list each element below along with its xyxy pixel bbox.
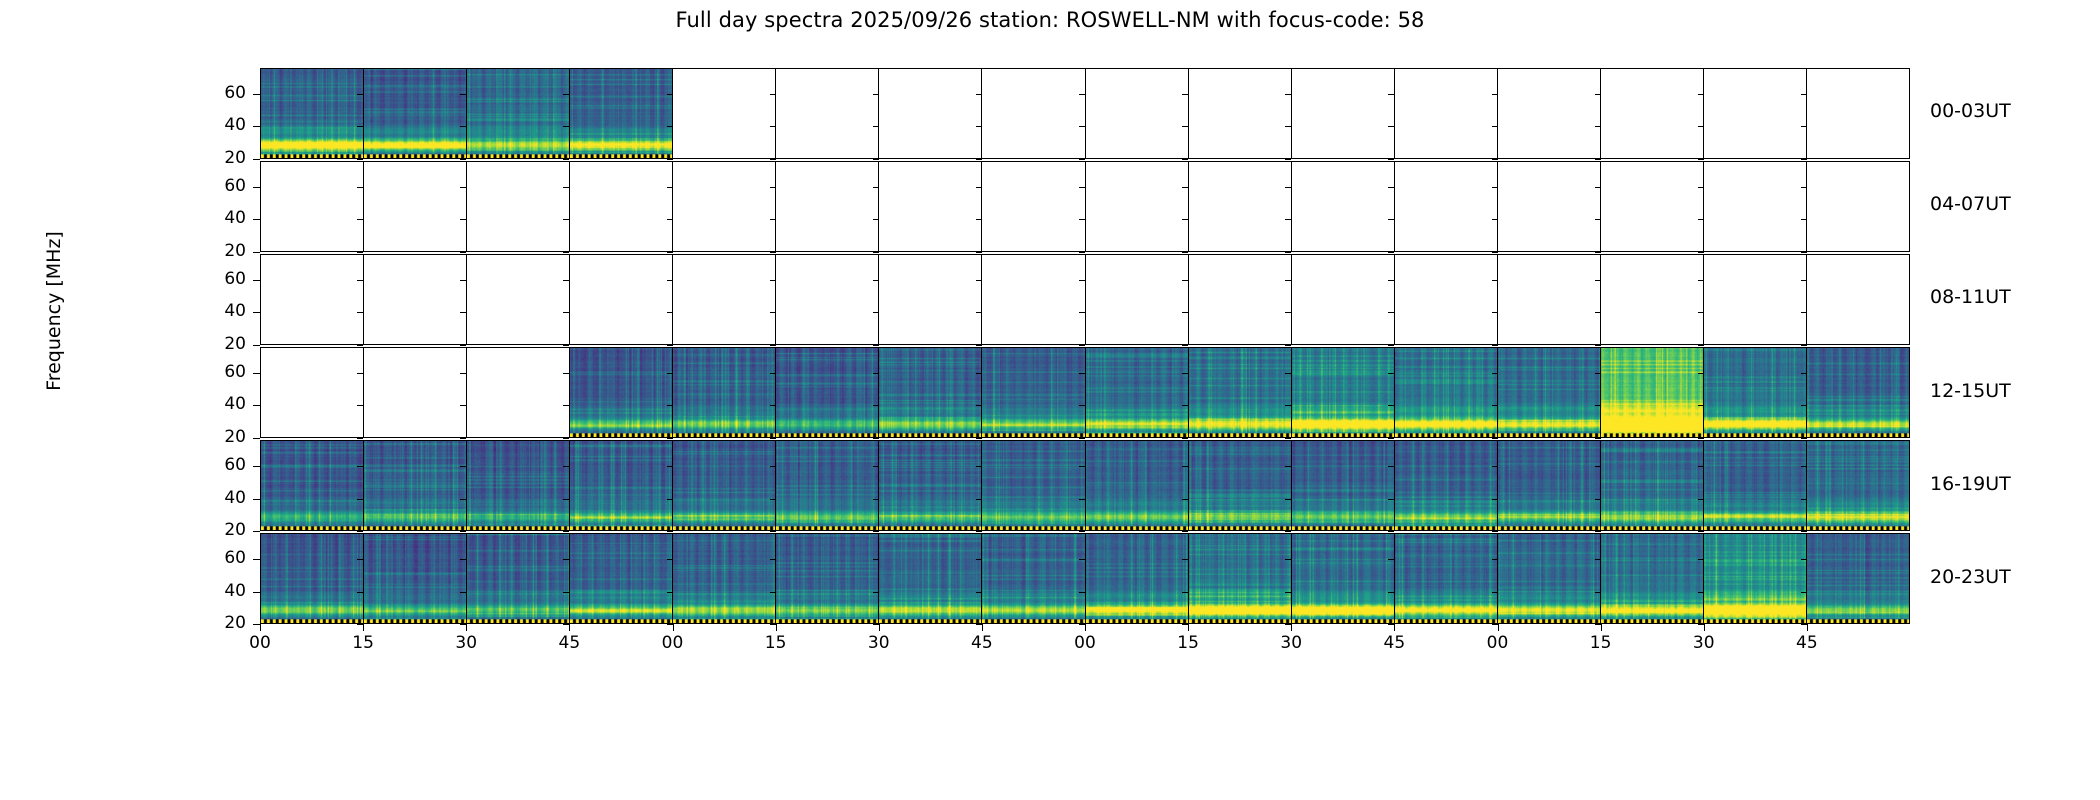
y-tick-stub xyxy=(357,126,363,127)
y-tick-stub xyxy=(1698,126,1704,127)
spectrogram-cell xyxy=(982,69,1085,158)
spectrogram-tile xyxy=(1086,534,1188,623)
spectrogram-tile xyxy=(570,69,672,158)
spectrogram-cell xyxy=(1807,348,1909,437)
y-tick-stub xyxy=(1285,94,1291,95)
spectrogram-cell xyxy=(1704,255,1807,344)
y-tick-stub xyxy=(1492,94,1498,95)
y-tick-stub xyxy=(976,499,982,500)
x-tick-label: 15 xyxy=(753,633,799,653)
spectrogram-cell xyxy=(982,348,1085,437)
spectrogram-cell xyxy=(1086,69,1189,158)
y-tick-stub xyxy=(1492,187,1498,188)
spectrogram-tile xyxy=(982,348,1084,437)
y-tick-stub xyxy=(1595,126,1601,127)
spectrogram-cell xyxy=(1807,534,1909,623)
y-tick-stub xyxy=(770,94,776,95)
y-tick-label: 40 xyxy=(198,115,246,135)
y-tick-stub xyxy=(667,126,673,127)
y-tick-stub xyxy=(460,559,466,560)
y-tick-stub xyxy=(1492,559,1498,560)
x-tick-mark xyxy=(569,624,570,631)
y-tick-stub xyxy=(976,280,982,281)
x-tick-label: 30 xyxy=(856,633,902,653)
y-tick-stub xyxy=(873,499,879,500)
y-tick-label: 40 xyxy=(198,581,246,601)
y-tick-label: 60 xyxy=(198,269,246,289)
spectrogram-cell xyxy=(1292,348,1395,437)
spectrogram-cell xyxy=(1601,348,1704,437)
y-tick-stub xyxy=(1079,624,1085,625)
y-tick-stub xyxy=(563,531,569,532)
y-tick-stub xyxy=(1492,624,1498,625)
row-label-16-19ut: 16-19UT xyxy=(1930,473,2011,495)
y-tick-stub xyxy=(1801,559,1807,560)
spectrogram-cell xyxy=(879,69,982,158)
y-tick-stub xyxy=(460,219,466,220)
spectrogram-tile xyxy=(1601,441,1703,530)
y-tick-stub xyxy=(770,624,776,625)
y-tick-stub xyxy=(1595,252,1601,253)
spectrogram-cell xyxy=(1498,441,1601,530)
x-tick-label: 00 xyxy=(1475,633,1521,653)
spectrogram-cell xyxy=(364,162,467,251)
spectrogram-cell xyxy=(1086,348,1189,437)
y-tick-stub xyxy=(1079,499,1085,500)
spectrogram-tile xyxy=(776,348,878,437)
y-tick-stub xyxy=(667,592,673,593)
y-tick-stub xyxy=(1595,187,1601,188)
y-tick-stub xyxy=(357,159,363,160)
y-tick-stub xyxy=(357,438,363,439)
spectrogram-cell xyxy=(261,162,364,251)
y-tick-stub xyxy=(357,373,363,374)
spectrogram-cell xyxy=(570,255,673,344)
y-tick-stub xyxy=(976,405,982,406)
y-tick-stub xyxy=(563,219,569,220)
spectrogram-tile xyxy=(364,69,466,158)
y-tick-stub xyxy=(770,219,776,220)
y-tick-stub xyxy=(1595,219,1601,220)
y-tick-stub xyxy=(460,405,466,406)
y-tick-stub xyxy=(460,466,466,467)
spectrogram-tile xyxy=(673,534,775,623)
y-tick-stub xyxy=(1285,126,1291,127)
x-tick-mark xyxy=(466,624,467,631)
spectrogram-cell xyxy=(1498,348,1601,437)
spectrogram-cell xyxy=(1807,162,1909,251)
y-tick-stub xyxy=(563,466,569,467)
spectrogram-row-20-23ut xyxy=(260,533,1910,624)
spectrogram-cell xyxy=(570,69,673,158)
spectrogram-cell xyxy=(1086,162,1189,251)
y-tick-stub xyxy=(1182,126,1188,127)
x-tick-label: 15 xyxy=(1578,633,1624,653)
y-tick-stub xyxy=(1388,187,1394,188)
x-tick-label: 45 xyxy=(1371,633,1417,653)
y-tick-stub xyxy=(770,592,776,593)
spectrogram-cell xyxy=(1704,348,1807,437)
y-tick-stub xyxy=(1388,438,1394,439)
spectrogram-tile xyxy=(776,534,878,623)
spectrogram-figure: Full day spectra 2025/09/26 station: ROS… xyxy=(0,0,2100,800)
y-tick-stub xyxy=(357,312,363,313)
spectrogram-cell xyxy=(673,534,776,623)
y-tick-stub xyxy=(667,559,673,560)
y-tick-mark xyxy=(253,187,260,188)
spectrogram-cell xyxy=(1086,441,1189,530)
y-tick-stub xyxy=(873,94,879,95)
spectrogram-cell xyxy=(467,69,570,158)
y-tick-label: 60 xyxy=(198,362,246,382)
y-tick-stub xyxy=(1388,592,1394,593)
y-tick-stub xyxy=(1079,373,1085,374)
spectrogram-tile xyxy=(261,534,363,623)
spectrogram-tile xyxy=(364,441,466,530)
x-tick-mark xyxy=(673,624,674,631)
spectrogram-row-04-07ut xyxy=(260,161,1910,252)
spectrogram-cell xyxy=(261,69,364,158)
spectrogram-cell xyxy=(673,69,776,158)
y-tick-stub xyxy=(1801,94,1807,95)
y-tick-stub xyxy=(976,559,982,560)
y-tick-stub xyxy=(1285,345,1291,346)
spectrogram-cell xyxy=(1807,441,1909,530)
y-tick-label: 60 xyxy=(198,548,246,568)
x-tick-label: 30 xyxy=(443,633,489,653)
y-tick-stub xyxy=(1182,405,1188,406)
y-tick-stub xyxy=(563,187,569,188)
y-tick-stub xyxy=(1388,159,1394,160)
spectrogram-cell xyxy=(364,441,467,530)
y-tick-stub xyxy=(1698,405,1704,406)
spectrogram-cell xyxy=(1292,69,1395,158)
spectrogram-tile xyxy=(673,441,775,530)
spectrogram-cell xyxy=(1395,534,1498,623)
y-tick-stub xyxy=(976,187,982,188)
y-tick-stub xyxy=(460,94,466,95)
row-cells xyxy=(261,69,1909,158)
x-tick-label: 30 xyxy=(1268,633,1314,653)
y-tick-mark xyxy=(253,466,260,467)
y-tick-stub xyxy=(1388,559,1394,560)
x-tick-mark xyxy=(1085,624,1086,631)
y-tick-stub xyxy=(1079,345,1085,346)
spectrogram-tile xyxy=(1704,534,1806,623)
y-tick-label: 60 xyxy=(198,83,246,103)
y-tick-stub xyxy=(1285,592,1291,593)
spectrogram-cell xyxy=(776,441,879,530)
y-tick-stub xyxy=(667,280,673,281)
y-tick-stub xyxy=(563,252,569,253)
spectrogram-tile xyxy=(1601,534,1703,623)
spectrogram-tile xyxy=(1086,348,1188,437)
spectrogram-tile xyxy=(879,348,981,437)
y-tick-stub xyxy=(873,559,879,560)
spectrogram-tile xyxy=(1395,534,1497,623)
y-tick-stub xyxy=(1801,373,1807,374)
y-tick-stub xyxy=(1079,559,1085,560)
y-tick-stub xyxy=(770,531,776,532)
y-tick-mark xyxy=(253,624,260,625)
x-tick-mark xyxy=(1394,624,1395,631)
y-tick-stub xyxy=(1182,94,1188,95)
y-tick-stub xyxy=(1285,312,1291,313)
x-tick-label: 45 xyxy=(1784,633,1830,653)
y-tick-stub xyxy=(770,499,776,500)
spectrogram-row-00-03ut xyxy=(260,68,1910,159)
spectrogram-tile xyxy=(879,441,981,530)
y-tick-stub xyxy=(460,345,466,346)
y-tick-stub xyxy=(357,466,363,467)
spectrogram-tile xyxy=(570,441,672,530)
y-tick-stub xyxy=(1801,592,1807,593)
row-cells xyxy=(261,441,1909,530)
y-tick-stub xyxy=(1595,312,1601,313)
spectrogram-cell xyxy=(776,255,879,344)
y-tick-stub xyxy=(1285,252,1291,253)
y-tick-label: 40 xyxy=(198,208,246,228)
y-tick-mark xyxy=(253,373,260,374)
y-tick-stub xyxy=(976,438,982,439)
x-tick-mark xyxy=(1291,624,1292,631)
y-tick-stub xyxy=(1698,592,1704,593)
y-tick-stub xyxy=(563,405,569,406)
y-tick-stub xyxy=(770,373,776,374)
y-tick-stub xyxy=(460,438,466,439)
y-tick-stub xyxy=(563,126,569,127)
spectrogram-cell xyxy=(982,162,1085,251)
y-tick-label: 40 xyxy=(198,301,246,321)
y-tick-stub xyxy=(1698,252,1704,253)
y-tick-stub xyxy=(1595,499,1601,500)
y-tick-stub xyxy=(1801,499,1807,500)
y-tick-stub xyxy=(1492,373,1498,374)
y-tick-stub xyxy=(460,592,466,593)
spectrogram-tile xyxy=(1292,348,1394,437)
spectrogram-tile xyxy=(982,534,1084,623)
y-tick-stub xyxy=(1698,624,1704,625)
y-tick-stub xyxy=(1182,345,1188,346)
spectrogram-tile xyxy=(1498,348,1600,437)
y-tick-stub xyxy=(1388,466,1394,467)
spectrogram-tile xyxy=(467,441,569,530)
y-tick-stub xyxy=(1801,252,1807,253)
x-tick-mark xyxy=(776,624,777,631)
row-label-08-11ut: 08-11UT xyxy=(1930,286,2011,308)
x-tick-mark xyxy=(363,624,364,631)
y-axis-title: Frequency [MHz] xyxy=(43,161,65,461)
y-tick-stub xyxy=(357,345,363,346)
y-tick-label: 20 xyxy=(198,613,246,633)
spectrogram-cell xyxy=(364,348,467,437)
spectrogram-cell xyxy=(1292,534,1395,623)
y-tick-mark xyxy=(253,345,260,346)
y-tick-label: 20 xyxy=(198,334,246,354)
x-tick-mark xyxy=(1807,624,1808,631)
y-tick-stub xyxy=(1182,159,1188,160)
y-tick-stub xyxy=(1079,252,1085,253)
spectrogram-cell xyxy=(982,441,1085,530)
y-tick-stub xyxy=(1388,219,1394,220)
spectrogram-cell xyxy=(1189,162,1292,251)
y-tick-stub xyxy=(1492,252,1498,253)
spectrogram-cell xyxy=(1395,255,1498,344)
x-tick-label: 15 xyxy=(1165,633,1211,653)
spectrogram-tile xyxy=(879,534,981,623)
y-tick-stub xyxy=(1285,280,1291,281)
y-tick-stub xyxy=(976,466,982,467)
y-tick-stub xyxy=(1595,94,1601,95)
spectrogram-cell xyxy=(261,348,364,437)
y-tick-stub xyxy=(873,345,879,346)
y-tick-stub xyxy=(1698,187,1704,188)
y-tick-stub xyxy=(770,312,776,313)
y-tick-stub xyxy=(563,312,569,313)
y-tick-stub xyxy=(770,159,776,160)
spectrogram-cell xyxy=(1189,534,1292,623)
y-tick-stub xyxy=(460,280,466,281)
y-tick-stub xyxy=(1182,531,1188,532)
spectrogram-cell xyxy=(982,255,1085,344)
y-tick-stub xyxy=(1079,592,1085,593)
y-tick-label: 40 xyxy=(198,394,246,414)
y-tick-stub xyxy=(1595,466,1601,467)
spectrogram-cell xyxy=(982,534,1085,623)
spectrogram-cell xyxy=(1189,69,1292,158)
y-tick-stub xyxy=(1182,499,1188,500)
y-tick-stub xyxy=(1492,312,1498,313)
y-tick-stub xyxy=(1801,187,1807,188)
y-tick-stub xyxy=(770,126,776,127)
spectrogram-cell xyxy=(1704,441,1807,530)
y-tick-stub xyxy=(1079,531,1085,532)
spectrogram-cell xyxy=(1601,69,1704,158)
y-tick-stub xyxy=(1182,280,1188,281)
y-tick-stub xyxy=(1801,624,1807,625)
spectrogram-cell xyxy=(673,255,776,344)
y-tick-stub xyxy=(770,438,776,439)
y-tick-stub xyxy=(1079,126,1085,127)
y-tick-stub xyxy=(460,126,466,127)
spectrogram-cell xyxy=(879,441,982,530)
y-tick-stub xyxy=(667,466,673,467)
x-tick-mark xyxy=(982,624,983,631)
y-tick-stub xyxy=(1492,159,1498,160)
row-label-20-23ut: 20-23UT xyxy=(1930,566,2011,588)
spectrogram-tile xyxy=(776,441,878,530)
spectrogram-cell xyxy=(570,348,673,437)
y-tick-stub xyxy=(667,345,673,346)
y-tick-stub xyxy=(770,466,776,467)
y-tick-stub xyxy=(1182,438,1188,439)
y-tick-mark xyxy=(253,94,260,95)
spectrogram-cell xyxy=(1189,255,1292,344)
y-tick-mark xyxy=(253,405,260,406)
y-tick-stub xyxy=(1698,159,1704,160)
y-tick-stub xyxy=(873,438,879,439)
y-tick-stub xyxy=(976,531,982,532)
y-tick-stub xyxy=(1801,438,1807,439)
y-tick-stub xyxy=(1182,312,1188,313)
y-tick-stub xyxy=(563,559,569,560)
y-tick-stub xyxy=(357,624,363,625)
y-tick-stub xyxy=(1079,187,1085,188)
y-tick-stub xyxy=(460,499,466,500)
y-tick-stub xyxy=(976,126,982,127)
y-tick-mark xyxy=(253,219,260,220)
x-tick-label: 30 xyxy=(1681,633,1727,653)
y-tick-stub xyxy=(1595,280,1601,281)
spectrogram-tile xyxy=(1189,441,1291,530)
spectrogram-cell xyxy=(364,255,467,344)
y-tick-stub xyxy=(1801,405,1807,406)
y-tick-mark xyxy=(253,126,260,127)
y-tick-stub xyxy=(1801,312,1807,313)
y-tick-stub xyxy=(1285,219,1291,220)
y-tick-stub xyxy=(1698,373,1704,374)
spectrogram-cell xyxy=(1704,162,1807,251)
y-tick-stub xyxy=(1182,219,1188,220)
page-title: Full day spectra 2025/09/26 station: ROS… xyxy=(0,8,2100,32)
spectrogram-cell xyxy=(879,348,982,437)
spectrogram-tile xyxy=(1086,441,1188,530)
x-tick-label: 00 xyxy=(650,633,696,653)
spectrogram-tile xyxy=(1292,441,1394,530)
y-tick-stub xyxy=(1698,438,1704,439)
y-tick-stub xyxy=(770,405,776,406)
y-tick-stub xyxy=(357,219,363,220)
y-tick-mark xyxy=(253,592,260,593)
y-tick-stub xyxy=(460,252,466,253)
y-tick-mark xyxy=(253,438,260,439)
y-tick-stub xyxy=(976,252,982,253)
spectrogram-row-12-15ut xyxy=(260,347,1910,438)
spectrogram-cell xyxy=(1498,255,1601,344)
y-tick-mark xyxy=(253,252,260,253)
spectrogram-cell xyxy=(1498,69,1601,158)
y-tick-label: 20 xyxy=(198,427,246,447)
y-tick-stub xyxy=(873,252,879,253)
y-tick-mark xyxy=(253,499,260,500)
y-tick-stub xyxy=(1801,219,1807,220)
y-tick-stub xyxy=(460,624,466,625)
y-tick-stub xyxy=(770,252,776,253)
x-tick-mark xyxy=(1498,624,1499,631)
y-tick-stub xyxy=(1595,531,1601,532)
spectrogram-cell xyxy=(467,348,570,437)
spectrogram-cell xyxy=(364,69,467,158)
spectrogram-cell xyxy=(776,162,879,251)
y-tick-stub xyxy=(1595,373,1601,374)
spectrogram-cell xyxy=(570,162,673,251)
y-tick-stub xyxy=(976,624,982,625)
row-cells xyxy=(261,162,1909,251)
spectrogram-tile xyxy=(982,441,1084,530)
spectrogram-tile xyxy=(1807,441,1909,530)
y-tick-stub xyxy=(1492,405,1498,406)
spectrogram-tile xyxy=(570,534,672,623)
y-tick-stub xyxy=(1595,159,1601,160)
y-tick-stub xyxy=(1492,280,1498,281)
y-tick-label: 20 xyxy=(198,520,246,540)
y-tick-stub xyxy=(1492,219,1498,220)
y-tick-stub xyxy=(1492,126,1498,127)
y-tick-stub xyxy=(1079,159,1085,160)
spectrogram-cell xyxy=(1292,441,1395,530)
y-tick-stub xyxy=(976,592,982,593)
y-tick-stub xyxy=(563,438,569,439)
